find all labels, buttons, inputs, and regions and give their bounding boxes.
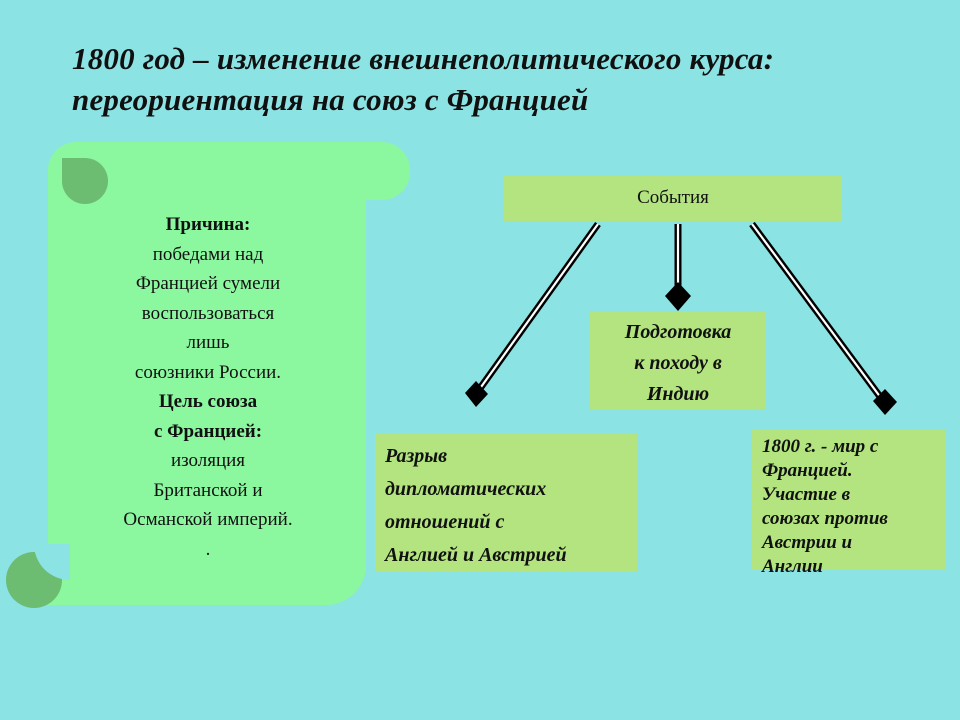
cause-panel-text: Причина:победами надФранцией сумеливоспо… (60, 210, 356, 564)
arrow-events-to-peace (752, 224, 897, 415)
circle-decoration-icon (6, 552, 62, 608)
page-title: 1800 год – изменение внешнеполитического… (72, 38, 912, 120)
leaf-decoration-icon (62, 158, 108, 204)
flow-node-india[interactable]: Подготовка к походу в Индию (590, 312, 766, 410)
arrow-events-to-india (665, 224, 691, 311)
flow-node-peace[interactable]: 1800 г. - мир с Францией. Участие в союз… (752, 430, 946, 570)
flow-node-events[interactable]: События (504, 175, 842, 221)
slide-canvas: 1800 год – изменение внешнеполитического… (0, 0, 960, 720)
arrow-events-to-break (465, 224, 598, 407)
flow-node-break[interactable]: Разрыв дипломатических отношений с Англи… (375, 434, 637, 572)
